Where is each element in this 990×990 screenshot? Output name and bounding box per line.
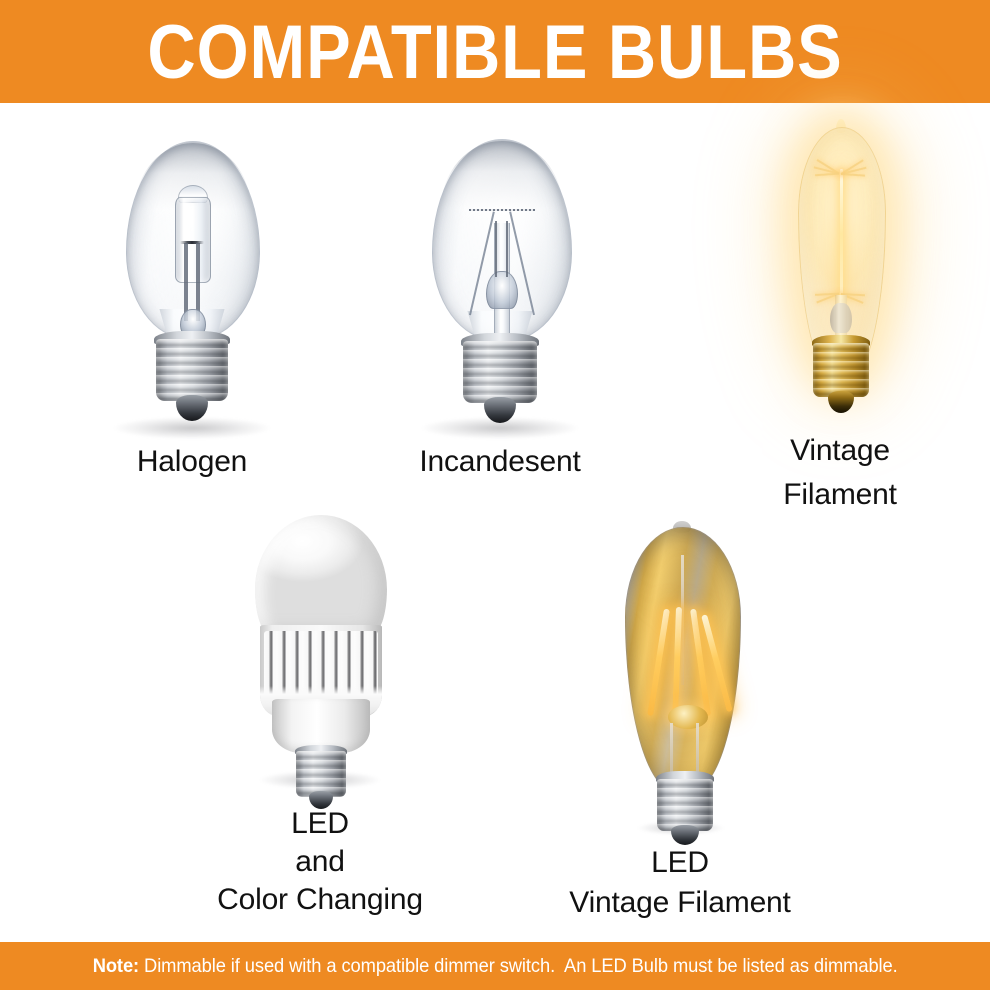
bulb-grid: Halogen Incandesent (0, 103, 990, 942)
page-title: COMPATIBLE BULBS (147, 15, 842, 91)
led-vintage-filament-bulb-icon (510, 499, 850, 839)
screw-base (813, 343, 869, 397)
lead-wire-right (506, 221, 508, 277)
base-contact-tip (671, 825, 699, 845)
incandescent-bulb-icon (330, 123, 670, 443)
halogen-bulb-icon (22, 123, 362, 443)
screw-base (657, 779, 713, 831)
vintage-filament-bulb-icon (690, 95, 990, 435)
dimmable-note: Note: Dimmable if used with a compatible… (93, 955, 898, 978)
bulb-card-led-vintage-filament[interactable]: LED Vintage Filament (510, 499, 850, 939)
footer-banner: Note: Dimmable if used with a compatible… (0, 942, 990, 990)
screw-base (156, 339, 228, 401)
bulb-card-led-color-changing[interactable]: LED and Color Changing (150, 503, 490, 923)
halogen-capsule (175, 197, 211, 283)
bulb-caption-led-color-changing: LED and Color Changing (150, 805, 490, 919)
press-seal (486, 271, 518, 309)
filament-wire (840, 169, 843, 299)
screw-base (463, 341, 537, 403)
led-diffuser-dome (255, 515, 387, 635)
stem-mount (830, 303, 852, 333)
bulb-caption-led-vintage-filament: LED Vintage Filament (510, 843, 850, 923)
filament-coil (469, 209, 535, 211)
bulb-card-incandescent[interactable]: Incandesent (330, 123, 670, 533)
bulb-caption-halogen: Halogen (22, 445, 362, 479)
lead-wire-left (495, 221, 497, 277)
bulb-card-vintage-filament[interactable]: Vintage Filament (690, 95, 990, 515)
bulb-card-halogen[interactable]: Halogen (22, 123, 362, 533)
note-label: Note: (93, 955, 139, 977)
bulb-caption-incandescent: Incandesent (330, 445, 670, 479)
note-text: Dimmable if used with a compatible dimme… (139, 955, 898, 977)
header-banner: COMPATIBLE BULBS (0, 0, 990, 103)
base-contact-tip (828, 391, 854, 413)
filament-hub (668, 705, 708, 729)
led-bulb-icon (150, 503, 490, 803)
